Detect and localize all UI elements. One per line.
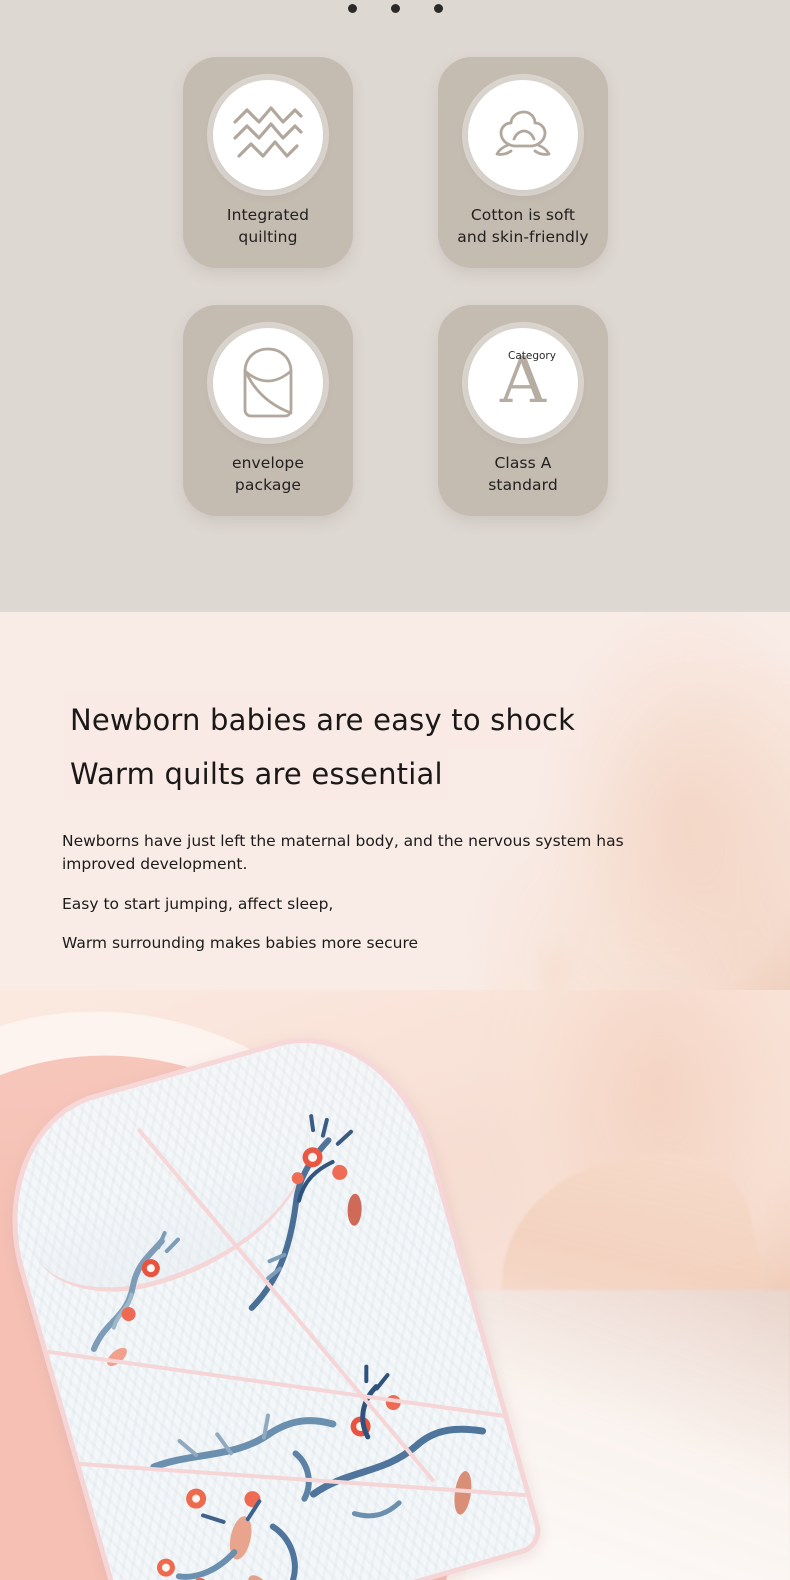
- feature-card-cotton-soft[interactable]: Cotton is soft and skin-friendly: [438, 57, 608, 268]
- feature-highlights-section: Integrated quilting Cotton is soft and s…: [0, 0, 790, 612]
- category-word-label: Category: [508, 350, 556, 362]
- zigzag-quilting-icon: [213, 80, 323, 190]
- category-a-icon: A Category: [468, 328, 578, 438]
- feature-card-grid: Integrated quilting Cotton is soft and s…: [183, 57, 605, 513]
- body-paragraph: Newborns have just left the maternal bod…: [62, 830, 647, 877]
- body-copy-block: Newborns have just left the maternal bod…: [62, 830, 662, 955]
- blanket-floral-motif: [122, 1483, 356, 1580]
- blanket-floral-motif: [125, 1347, 372, 1580]
- pagination-dot[interactable]: [434, 4, 443, 13]
- feature-card-label: Cotton is soft and skin-friendly: [457, 204, 588, 249]
- blanket-floral-motif: [277, 1338, 515, 1580]
- feature-card-integrated-quilting[interactable]: Integrated quilting: [183, 57, 353, 268]
- feature-card-label: Integrated quilting: [227, 204, 309, 249]
- pagination-dot[interactable]: [348, 4, 357, 13]
- headline-line-1: Newborn babies are easy to shock: [62, 693, 581, 747]
- product-detail-page: Integrated quilting Cotton is soft and s…: [0, 0, 790, 1580]
- feature-card-label: Class A standard: [488, 452, 558, 497]
- feature-card-label: envelope package: [232, 452, 304, 497]
- headline-line-2: Warm quilts are essential: [62, 747, 449, 801]
- body-paragraph: Warm surrounding makes babies more secur…: [62, 932, 647, 955]
- feature-card-class-a-standard[interactable]: A Category Class A standard: [438, 305, 608, 516]
- headline-block: Newborn babies are easy to shock Warm qu…: [62, 693, 532, 801]
- body-paragraph: Easy to start jumping, affect sleep,: [62, 893, 647, 916]
- pagination-dot[interactable]: [391, 4, 400, 13]
- blanket-fold-seam: [37, 1459, 546, 1499]
- cotton-boll-icon: [468, 80, 578, 190]
- swaddle-envelope-icon: [213, 328, 323, 438]
- product-photo-block: [0, 990, 790, 1580]
- blanket-fold-seam: [3, 1344, 518, 1420]
- carousel-pagination-dots[interactable]: [0, 4, 790, 13]
- feature-card-envelope-package[interactable]: envelope package: [183, 305, 353, 516]
